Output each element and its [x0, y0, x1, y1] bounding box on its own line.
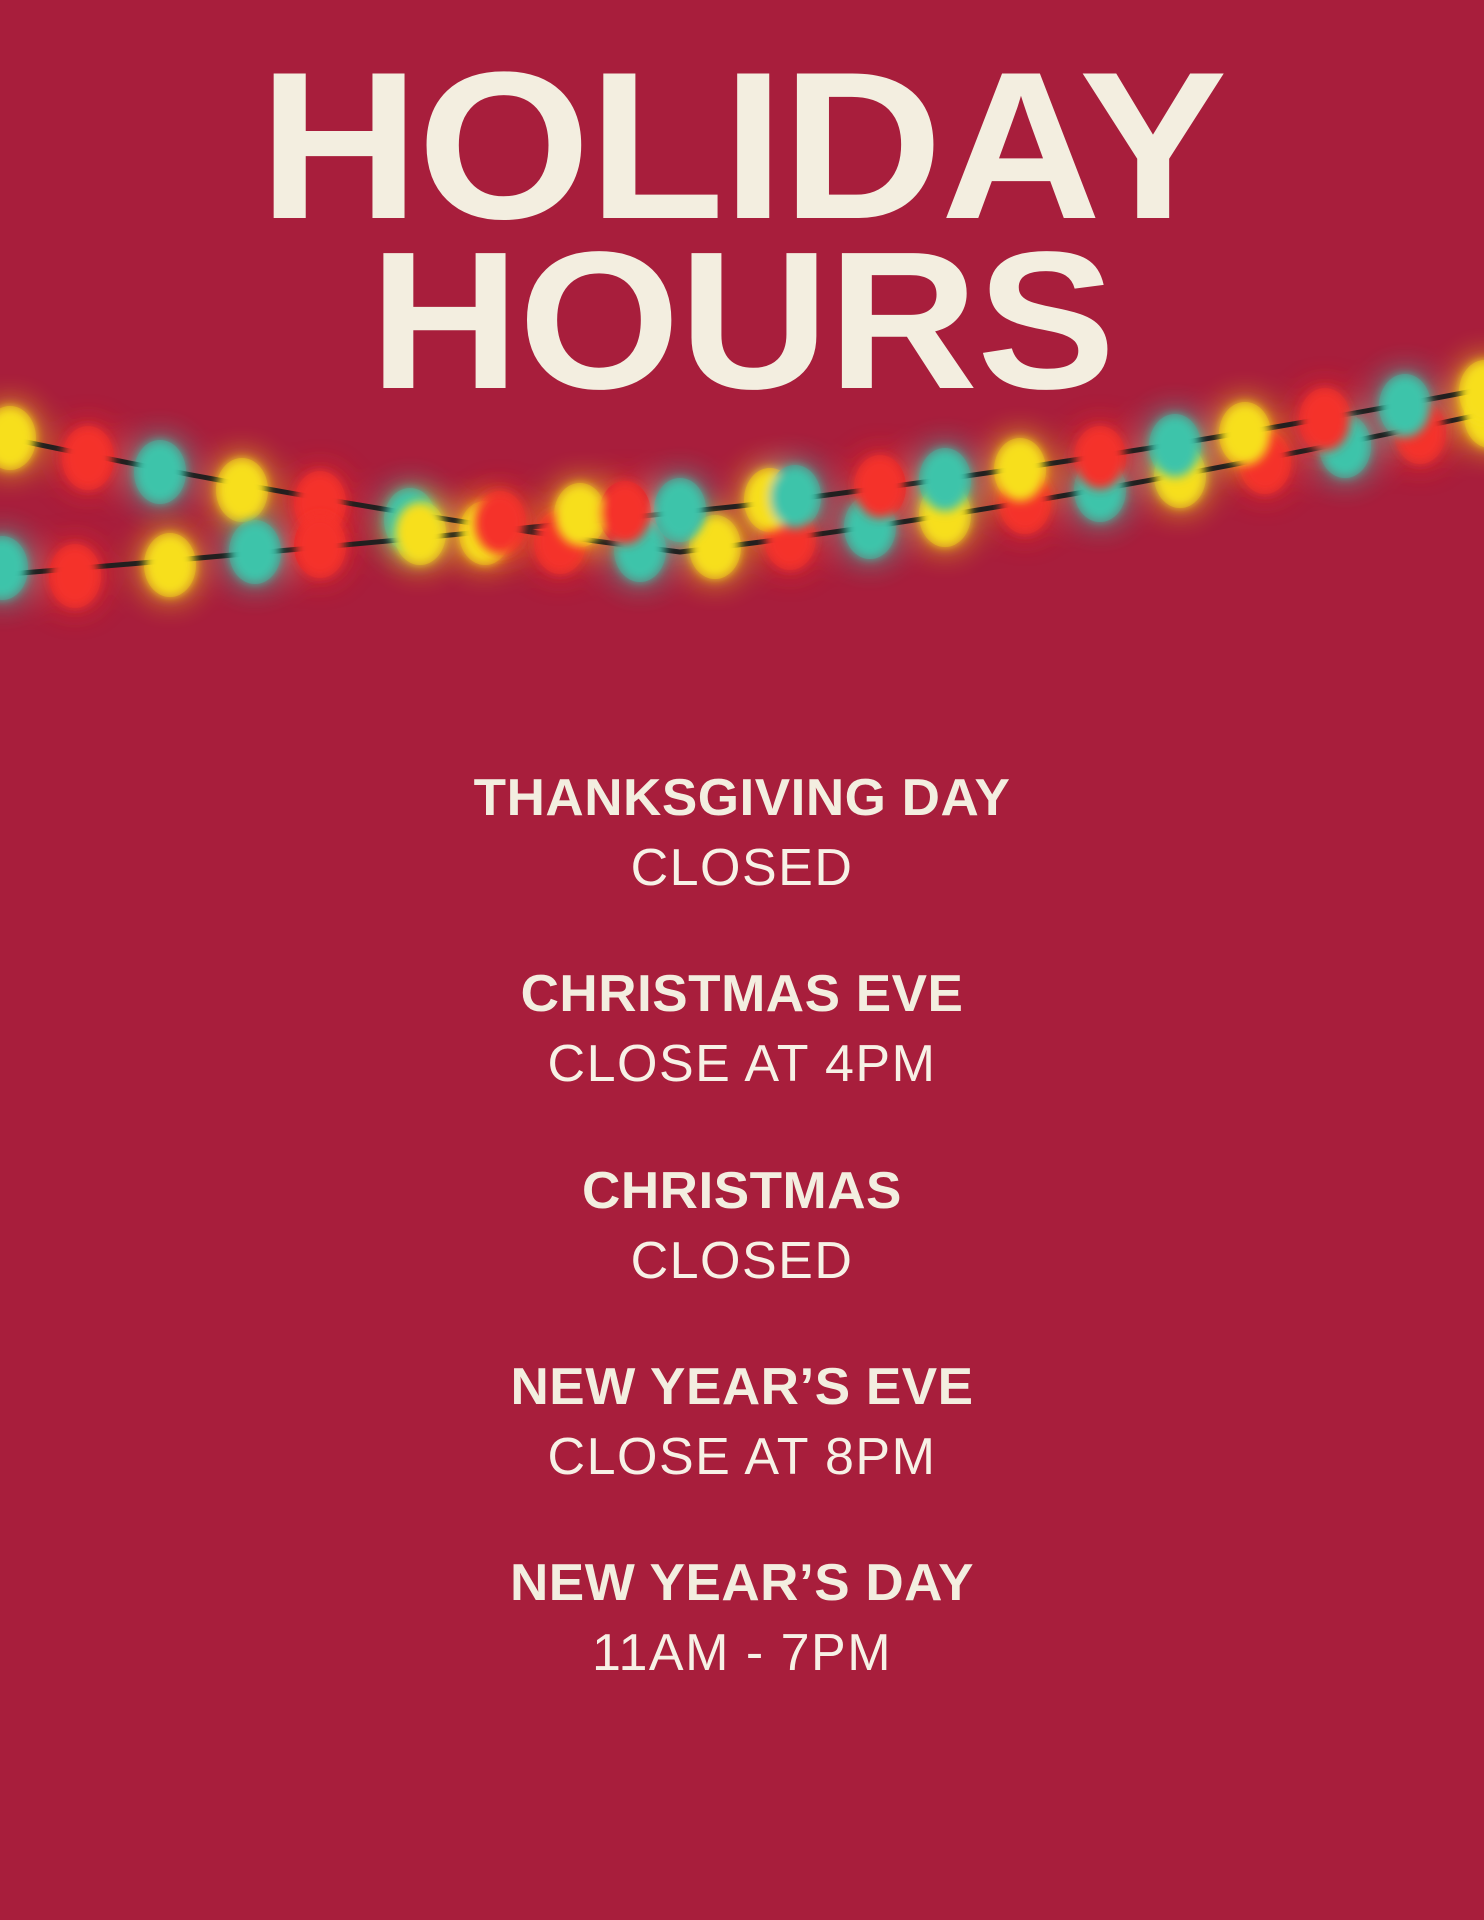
- poster-title: HOLIDAY HOURS: [0, 56, 1484, 405]
- holiday-hours-poster: HOLIDAY HOURS: [0, 0, 1484, 1920]
- string-b-glow: [0, 360, 1484, 608]
- holiday-hours: CLOSE AT 8PM: [0, 1429, 1484, 1485]
- holiday-name: NEW YEAR’S DAY: [0, 1555, 1484, 1611]
- hours-entry-thanksgiving: THANKSGIVING DAY CLOSED: [0, 770, 1484, 896]
- title-line-hours: HOURS: [0, 237, 1484, 406]
- string-a-bulbs: [0, 385, 1484, 581]
- holiday-name: CHRISTMAS: [0, 1163, 1484, 1219]
- holiday-hours: 11AM - 7PM: [0, 1625, 1484, 1681]
- holiday-hours-list: THANKSGIVING DAY CLOSED CHRISTMAS EVE CL…: [0, 770, 1484, 1682]
- light-wire-b: [0, 382, 1484, 578]
- hours-entry-christmas: CHRISTMAS CLOSED: [0, 1163, 1484, 1289]
- holiday-name: CHRISTMAS EVE: [0, 966, 1484, 1022]
- string-b-bulbs: [0, 361, 1484, 607]
- string-a-glow: [0, 384, 1484, 582]
- hours-entry-new-years-eve: NEW YEAR’S EVE CLOSE AT 8PM: [0, 1359, 1484, 1485]
- holiday-hours: CLOSED: [0, 840, 1484, 896]
- holiday-name: THANKSGIVING DAY: [0, 770, 1484, 826]
- holiday-hours: CLOSE AT 4PM: [0, 1036, 1484, 1092]
- holiday-name: NEW YEAR’S EVE: [0, 1359, 1484, 1415]
- holiday-hours: CLOSED: [0, 1233, 1484, 1289]
- string-lights-svg: [0, 370, 1484, 640]
- hours-entry-new-years-day: NEW YEAR’S DAY 11AM - 7PM: [0, 1555, 1484, 1681]
- light-wire-a: [0, 406, 1484, 552]
- title-line-holiday: HOLIDAY: [0, 56, 1484, 237]
- string-lights-decoration: [0, 370, 1484, 640]
- hours-entry-christmas-eve: CHRISTMAS EVE CLOSE AT 4PM: [0, 966, 1484, 1092]
